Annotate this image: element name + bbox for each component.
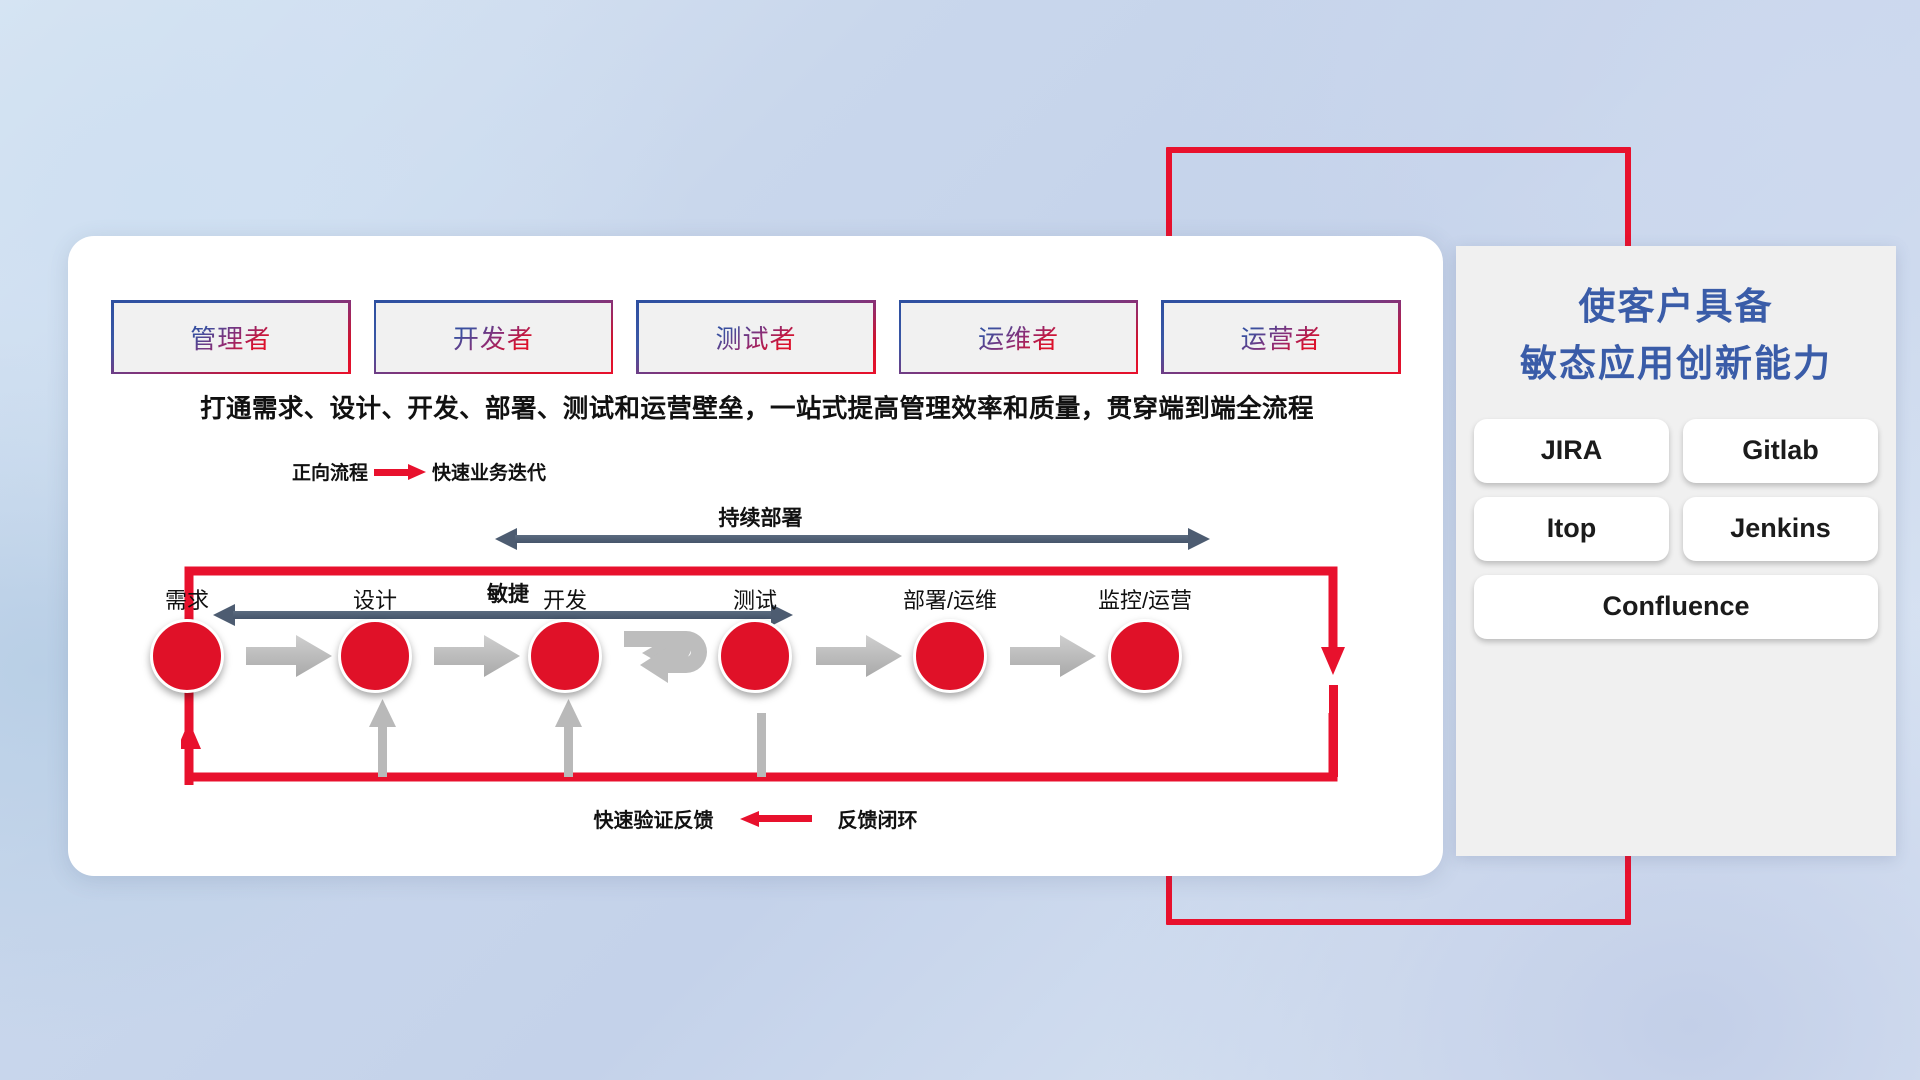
pipeline-node-requirements[interactable]: 需求 [150,619,224,693]
role-box-operator[interactable]: 运营者 [1161,300,1401,374]
pipeline-node-label: 需求 [165,583,209,615]
node-dot [913,619,987,693]
side-panel-title: 使客户具备 敏态应用创新能力 [1456,278,1896,393]
forward-flow-legend: 正向流程 快速业务迭代 [292,458,546,485]
role-label: 运维者 [978,319,1059,356]
forward-flow-from-label: 正向流程 [292,458,368,485]
tool-jenkins[interactable]: Jenkins [1683,497,1878,561]
forward-flow-to-label: 快速业务迭代 [432,458,546,485]
tool-jira[interactable]: JIRA [1474,419,1669,483]
pipeline: 需求 设计 开发 [68,619,1443,739]
tool-confluence[interactable]: Confluence [1474,575,1878,639]
feedback-legend: 快速验证反馈 反馈闭环 [68,804,1443,833]
pipeline-node-label: 测试 [733,583,777,615]
main-card: 管理者 开发者 测试者 运维者 运营者 打通需求、设计、开发、部署、测试和运营壁… [68,236,1443,876]
pipeline-node-label: 部署/运维 [903,583,997,615]
side-panel-title-line2: 敏态应用创新能力 [1456,335,1896,392]
arrow-right-red-icon [374,464,426,479]
loopback-arrow-icon [624,625,724,691]
pipeline-node-label: 开发 [543,583,587,615]
node-dot [718,619,792,693]
role-label: 管理者 [190,319,271,356]
pipeline-node-monitor-operate[interactable]: 监控/运营 [1108,619,1182,693]
role-label: 运营者 [1241,319,1322,356]
tool-gitlab[interactable]: Gitlab [1683,419,1878,483]
feedback-from-label: 快速验证反馈 [594,804,714,833]
role-box-manager[interactable]: 管理者 [111,300,351,374]
tool-list: JIRA Gitlab Itop Jenkins Confluence [1474,419,1878,639]
tool-itop[interactable]: Itop [1474,497,1669,561]
pipeline-node-design[interactable]: 设计 [338,619,412,693]
arrow-right-gray-icon [434,634,520,678]
node-dot [150,619,224,693]
pipeline-node-label: 监控/运营 [1098,583,1192,615]
role-box-ops[interactable]: 运维者 [899,300,1139,374]
node-dot [338,619,412,693]
node-dot [528,619,602,693]
role-label: 测试者 [715,319,796,356]
pipeline-node-development[interactable]: 开发 [528,619,602,693]
node-dot [1108,619,1182,693]
arrow-right-gray-icon [246,634,332,678]
side-panel-title-line1: 使客户具备 [1456,278,1896,335]
continuous-deployment-double-arrow-icon [495,528,1210,550]
pipeline-node-deploy-ops[interactable]: 部署/运维 [913,619,987,693]
pipeline-node-testing[interactable]: 测试 [718,619,792,693]
role-box-developer[interactable]: 开发者 [374,300,614,374]
role-box-tester[interactable]: 测试者 [636,300,876,374]
role-boxes-row: 管理者 开发者 测试者 运维者 运营者 [111,300,1401,374]
description-text: 打通需求、设计、开发、部署、测试和运营壁垒，一站式提高管理效率和质量，贯穿端到端… [112,388,1402,425]
arrow-left-red-icon [740,811,812,826]
side-panel: 使客户具备 敏态应用创新能力 JIRA Gitlab Itop Jenkins … [1456,246,1896,856]
role-label: 开发者 [453,319,534,356]
arrow-right-gray-icon [1010,634,1096,678]
feedback-to-label: 反馈闭环 [838,804,918,833]
pipeline-node-label: 设计 [353,583,397,615]
arrow-right-gray-icon [816,634,902,678]
